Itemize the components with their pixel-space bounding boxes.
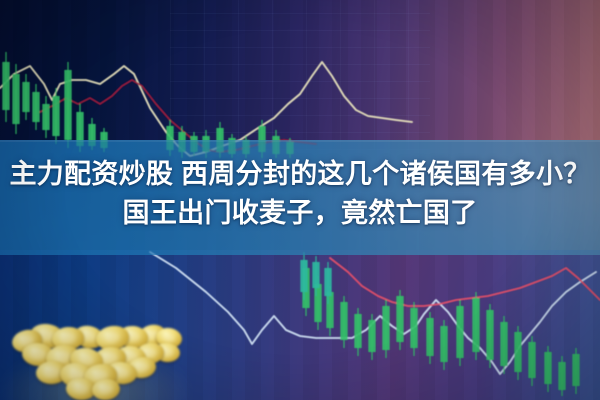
gold-coin-pile: [8, 320, 180, 400]
headline-line-1: 主力配资炒股 西周分封的这几个诸侯国有多小？: [0, 155, 600, 194]
banner-image: 主力配资炒股 西周分封的这几个诸侯国有多小？ 国王出门收麦子，竟然亡国了: [0, 0, 600, 400]
page-title: 主力配资炒股 西周分封的这几个诸侯国有多小？ 国王出门收麦子，竟然亡国了: [0, 155, 600, 233]
series-upper-left-candles: [2, 52, 107, 152]
headline-line-2: 国王出门收麦子，竟然亡国了: [0, 194, 600, 233]
